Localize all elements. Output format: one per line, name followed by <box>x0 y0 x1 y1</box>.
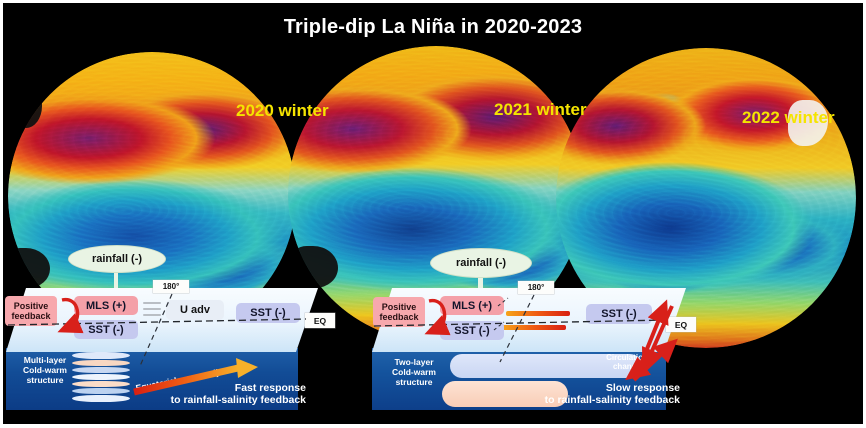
flow-tick-upper <box>498 298 508 306</box>
annotation-overlay <box>0 0 866 428</box>
positive-feedback-arrow-left <box>62 300 78 327</box>
figure-frame-left <box>0 0 3 428</box>
figure-root: 2020 winter 2021 winter 2022 winter rain… <box>0 0 866 428</box>
equatorial-wave-arrow <box>134 368 238 392</box>
equator-dashed-line-left <box>8 319 306 325</box>
figure-title: Triple-dip La Niña in 2020-2023 <box>0 16 866 39</box>
meridian-leader-left <box>140 294 172 366</box>
equatorial-wave-arrowhead <box>236 358 258 378</box>
figure-frame-bottom <box>0 424 866 428</box>
meridian-leader-right <box>500 295 534 362</box>
figure-frame-top <box>0 0 866 3</box>
